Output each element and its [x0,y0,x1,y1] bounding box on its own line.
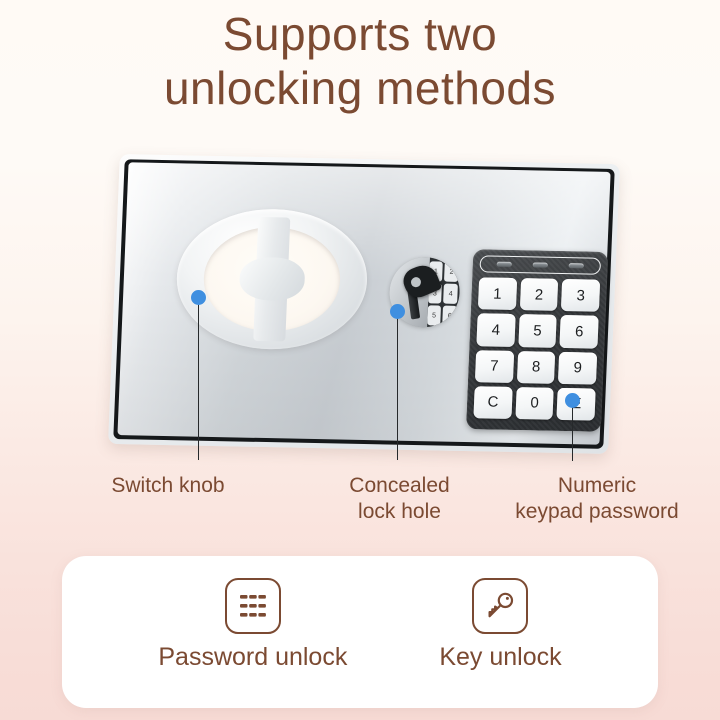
infographic-canvas: Supports two unlocking methods 1 2 3 [0,0,720,720]
callout-dot-lock-hole [390,304,405,319]
callout-line-numeric-keypad [572,405,573,461]
keypad-key-8[interactable]: 8 [517,351,556,384]
mini-key: 4 [443,284,458,304]
page-title: Supports two unlocking methods [0,8,720,116]
callout-label-lock-hole: Concealed lock hole [322,473,477,526]
led-indicator [533,262,548,267]
numeric-keypad[interactable]: 123456789C0E [466,249,608,432]
keypad-key-c[interactable]: C [473,386,512,419]
keypad-key-grid: 123456789C0E [473,277,600,420]
key-icon [472,578,528,634]
callout-line-lock-hole [397,316,398,460]
keypad-key-3[interactable]: 3 [561,279,600,312]
callout-dot-numeric-keypad [565,393,580,408]
keypad-key-2[interactable]: 2 [520,278,559,311]
page-title-line-1: Supports two [0,8,720,62]
keypad-key-1[interactable]: 1 [478,277,517,310]
led-indicator [569,263,584,268]
callout-label-switch-knob: Switch knob [88,473,248,499]
unlock-methods-card: Password unlock Key unlock [62,556,658,708]
keypad-key-5[interactable]: 5 [518,314,557,347]
feature-key-unlock[interactable]: Key unlock [439,578,561,672]
switch-knob[interactable] [174,207,370,351]
keypad-key-7[interactable]: 7 [475,350,514,383]
feature-password-unlock[interactable]: Password unlock [158,578,347,672]
keypad-key-0[interactable]: 0 [515,387,554,420]
page-title-line-2: unlocking methods [0,62,720,116]
knob-hub [239,257,305,302]
led-indicator-strip [479,255,601,274]
mini-key: 5 [427,306,442,326]
safe-door-panel: 1 2 3 4 5 6 123456789C0E [96,140,624,460]
led-indicator [496,262,511,267]
keypad-grid-icon [225,578,281,634]
callout-label-numeric-keypad: Numeric keypad password [497,473,697,526]
mini-key: 2 [444,262,459,282]
keypad-key-9[interactable]: 9 [558,351,597,384]
panel-perspective-wrap: 1 2 3 4 5 6 123456789C0E [108,154,620,454]
feature-label-password-unlock: Password unlock [158,643,347,672]
feature-label-key-unlock: Key unlock [439,643,561,672]
keypad-key-6[interactable]: 6 [560,315,599,348]
callout-line-switch-knob [198,302,199,460]
keypad-key-4[interactable]: 4 [476,314,515,347]
callout-dot-switch-knob [191,290,206,305]
mini-key: 6 [442,306,457,326]
